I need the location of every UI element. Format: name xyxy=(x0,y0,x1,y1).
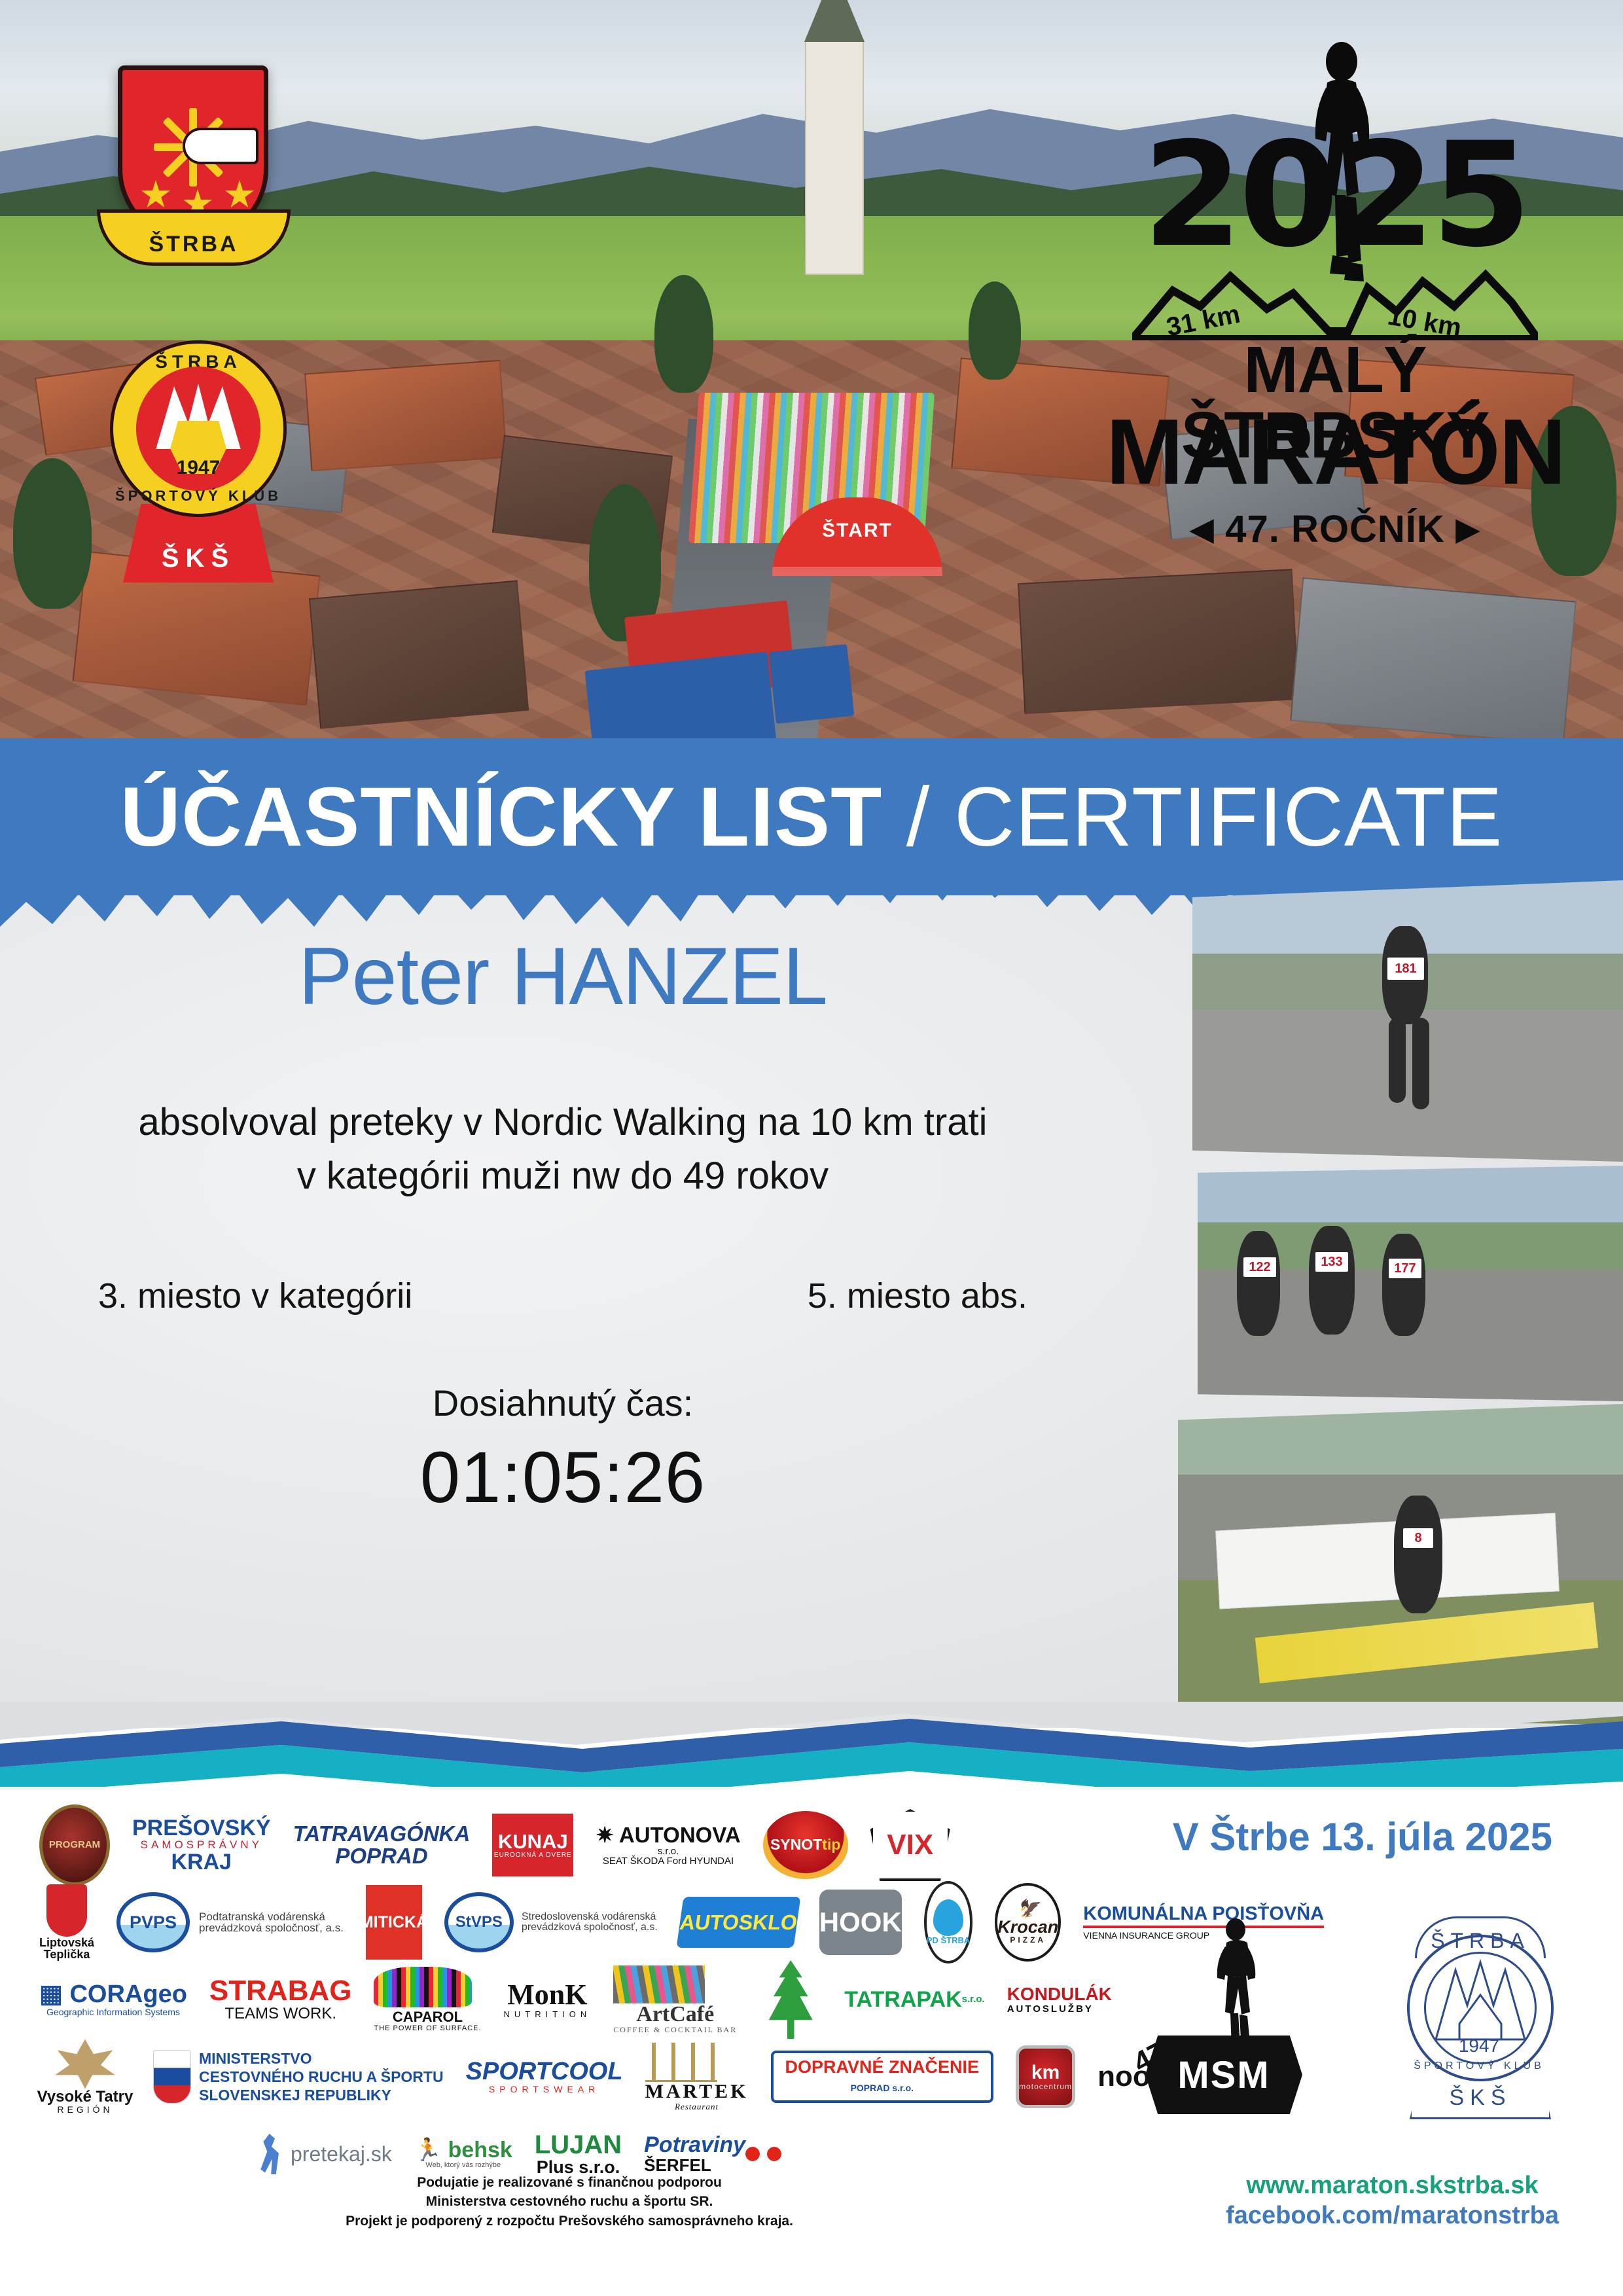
banner-title-sk: ÚČASTNÍCKY LIST xyxy=(120,770,883,864)
sponsor-sub2: prevádzková spoločnosť, a.s. xyxy=(199,1922,344,1934)
sponsor-logo-liptovska-teplicka: Liptovská Teplička xyxy=(39,1878,94,1967)
sponsor-logo-lujan-plus: LUJAN Plus s.r.o. xyxy=(535,2132,622,2176)
coat-ribbon: ŠTRBA xyxy=(97,209,291,266)
club-emblem-arc-bottom: ŠPORTOVÝ KLUB xyxy=(113,488,283,505)
cutlery-icon xyxy=(645,2043,717,2082)
sports-club-emblem: ŠTRBA 1947 ŠPORTOVÝ KLUB xyxy=(110,340,287,517)
sponsor-logo-krocan-pizza: 🦅 Krocan PIZZA xyxy=(995,1883,1061,1962)
sponsor-logo-presovsky-kraj: PREŠOVSKÝ SAMOSPRÁVNY KRAJ xyxy=(132,1817,271,1874)
sponsor-logo-ps-urbar-strba xyxy=(759,1959,822,2040)
sponsor-sub: REGIÓN xyxy=(57,2105,113,2114)
website-url[interactable]: www.maraton.skstrba.sk xyxy=(1226,2170,1559,2200)
runner-figure xyxy=(1237,1231,1280,1336)
msm-runner-icon xyxy=(1204,1918,1264,2055)
sponsor-brands: SEAT ŠKODA Ford HYUNDAI xyxy=(596,1856,740,1866)
grid-icon: ▦ xyxy=(39,1981,63,2008)
time-label: Dosiahnutý čas: xyxy=(0,1382,1126,1424)
coffee-cup-icon xyxy=(613,1965,705,2003)
photo-finisher: 181 xyxy=(1192,880,1623,1162)
sponsor-name: LUJAN xyxy=(535,2130,622,2159)
disclaimer-line-2: Ministerstva cestovného ruchu a športu S… xyxy=(39,2192,1099,2211)
msm-abbr: MSM xyxy=(1177,2053,1270,2097)
funding-disclaimer: Podujatie je realizované s finančnou pod… xyxy=(39,2173,1099,2231)
contact-urls: www.maraton.skstrba.sk facebook.com/mara… xyxy=(1226,2170,1559,2231)
sponsor-sub: tip xyxy=(822,1837,840,1852)
tree xyxy=(969,281,1021,380)
sponsor-logo-beh-sk: 🏃 behsk Web, ktorý vás rozhýbe xyxy=(414,2139,512,2169)
sponsor-logo-synot-tip: SYNOTtip xyxy=(763,1811,848,1879)
coat-ribbon-label: ŠTRBA xyxy=(149,232,238,257)
sponsor-logo-grid: PROGRAM PREŠOVSKÝ SAMOSPRÁVNY KRAJ TATRA… xyxy=(39,1806,1152,2193)
sponsor-logo-vysoke-tatry: Vysoké Tatry REGIÓN xyxy=(39,2032,131,2121)
club-emblem-inner: 1947 xyxy=(136,367,260,491)
footer: PROGRAM PREŠOVSKÝ SAMOSPRÁVNY KRAJ TATRA… xyxy=(0,1787,1623,2296)
wave-divider xyxy=(0,1702,1623,1800)
photo-collage: 181 122 133 177 8 xyxy=(1152,880,1623,1728)
bib-number: 177 xyxy=(1389,1259,1421,1278)
event-title-line2: MARATÓN xyxy=(1106,406,1564,499)
coat-star xyxy=(224,180,255,210)
sponsor-logo-autonova: ✷ AUTONOVA s.r.o. SEAT ŠKODA Ford HYUNDA… xyxy=(596,1824,740,1866)
rooftop xyxy=(1018,569,1299,714)
rooftop xyxy=(309,580,529,728)
turkey-icon: 🦅 xyxy=(1017,1900,1039,1918)
hero-photo: ŠTART ŠTRBA ŠKŠ ŠTRBA 1947 ŠPORTOVÝ KLUB… xyxy=(0,0,1623,746)
coat-star xyxy=(141,180,171,210)
sponsor-logo-hook: HOOK xyxy=(819,1890,902,1955)
rooftop xyxy=(304,360,507,472)
sponsor-name: AUTOSKLO xyxy=(679,1912,799,1933)
sponsor-name: AUTONOVA xyxy=(619,1823,741,1847)
sponsor-name: MINISTERSTVO xyxy=(199,2050,312,2067)
runner-leg xyxy=(1412,1018,1429,1109)
crest-icon xyxy=(46,1884,87,1937)
sponsor-sub: Podtatranská vodárenská xyxy=(199,1910,325,1923)
sponsor-logo-pd-strba: PD ŠTRBA xyxy=(924,1881,972,1964)
sponsor-logo-autosklo-servis: AUTOSKLO xyxy=(676,1897,800,1948)
sponsor-sub: EUROOKNÁ A DVERE xyxy=(494,1852,572,1859)
runner-silhouette-icon xyxy=(1302,39,1381,301)
sponsor-name: CORAgeo xyxy=(69,1981,187,2008)
sponsor-name: CAPAROL xyxy=(393,2009,463,2025)
sponsor-name: MARTEK xyxy=(645,2081,749,2102)
runner-figure xyxy=(1309,1226,1355,1335)
sponsor-logo-tatravagonka: TATRAVAGÓNKA POPRAD xyxy=(293,1823,471,1867)
sponsor-logo-sportcool: SPORTCOOL SPORTSWEAR xyxy=(466,2059,623,2094)
event-tent xyxy=(769,644,855,724)
sponsor-logo-strabag: STRABAG TEAMS WORK. xyxy=(209,1977,352,2022)
sponsor-name: MITICKÁ xyxy=(360,1914,428,1931)
sponsor-name: HOOK xyxy=(819,1909,902,1937)
coat-hand xyxy=(183,128,259,164)
photo-finish-line: 8 xyxy=(1178,1404,1623,1725)
left-arrow-icon: ◀ xyxy=(1190,512,1214,546)
edelweiss-icon xyxy=(55,2039,115,2089)
issue-date: V Štrbe 13. júla 2025 xyxy=(1173,1814,1552,1859)
bib-number: 133 xyxy=(1315,1252,1348,1272)
sponsor-name: KONDULÁK xyxy=(1007,1984,1112,2004)
sponsor-name: behsk xyxy=(448,2138,512,2162)
right-arrow-icon: ▶ xyxy=(1456,512,1480,546)
sponsor-row: Liptovská Teplička PVPS Podtatranská vod… xyxy=(39,1884,1152,1961)
sponsor-name: StVPS xyxy=(444,1892,514,1952)
disclaimer-line-1: Podujatie je realizované s finančnou pod… xyxy=(39,2173,1099,2192)
sponsor-sub: s.r.o. xyxy=(962,1994,985,2004)
club-emblem-base-label: ŠKŠ xyxy=(162,544,235,573)
water-drop-icon xyxy=(933,1899,963,1936)
sponsor-sub: COFFEE & COCKTAIL BAR xyxy=(613,2026,737,2034)
disclaimer-line-3: Projekt je podporený z rozpočtu Prešovsk… xyxy=(39,2212,1099,2231)
certificate-description: absolvoval preteky v Nordic Walking na 1… xyxy=(0,1096,1126,1204)
sponsor-logo-artcafe: ArtCafé COFFEE & COCKTAIL BAR xyxy=(613,1965,737,2034)
elephant-icon xyxy=(374,1967,472,2007)
sponsor-sub: NUTRITION xyxy=(504,2010,592,2018)
sponsor-sub: POPRAD xyxy=(293,1845,471,1867)
participant-name: Peter HANZEL xyxy=(0,936,1126,1017)
sponsor-logo-miticka: MITICKÁ xyxy=(366,1885,422,1960)
running-figure-icon: 🏃 xyxy=(414,2138,442,2162)
description-line-1: absolvoval preteky v Nordic Walking na 1… xyxy=(0,1096,1126,1149)
facebook-url[interactable]: facebook.com/maratonstrba xyxy=(1226,2200,1559,2231)
sponsor-sub2: KRAJ xyxy=(171,1850,232,1874)
finish-banner xyxy=(1215,1513,1560,1609)
runner-icon xyxy=(258,2134,285,2174)
photo-pack-of-runners: 122 133 177 xyxy=(1198,1166,1623,1401)
event-edition-label: 47. ROČNÍK xyxy=(1225,508,1445,550)
sponsor-sub: s.r.o. xyxy=(596,1846,740,1856)
bib-number: 8 xyxy=(1403,1528,1433,1548)
finish-tape xyxy=(1255,1602,1598,1683)
banner-title-en: CERTIFICATE xyxy=(954,770,1503,864)
sponsor-logo-kunaj: KUNAJ EUROOKNÁ A DVERE xyxy=(492,1814,573,1876)
sponsor-logo-kondulak: KONDULÁK AUTOSLUŽBY xyxy=(1007,1985,1112,2014)
event-edition: ◀ 47. ROČNÍK ▶ xyxy=(1106,507,1564,551)
time-value: 01:05:26 xyxy=(0,1436,1126,1519)
sponsor-sub: CESTOVNÉHO RUCHU A ŠPORTU xyxy=(199,2068,444,2085)
sponsor-row: PROGRAM PREŠOVSKÝ SAMOSPRÁVNY KRAJ TATRA… xyxy=(39,1806,1152,1884)
sponsor-row: ▦ CORAgeo Geographic Information Systems… xyxy=(39,1961,1152,2038)
slovak-crest-icon xyxy=(153,2050,191,2104)
runner-leg xyxy=(1389,1018,1406,1103)
tree xyxy=(654,275,713,393)
church-building xyxy=(805,39,864,275)
certificate-content: Peter HANZEL absolvoval preteky v Nordic… xyxy=(0,936,1126,1519)
sponsor-name: Vysoké Tatry xyxy=(37,2089,134,2105)
bib-number: 122 xyxy=(1243,1257,1276,1277)
sponsor-sub: Geographic Information Systems xyxy=(39,2007,187,2017)
sponsor-logo-corageo: ▦ CORAgeo Geographic Information Systems xyxy=(39,1982,187,2017)
sponsor-logo-stvps: StVPS Stredoslovenská vodárenská prevádz… xyxy=(444,1892,658,1952)
sponsor-name: SYNOT xyxy=(770,1837,822,1852)
description-line-2: v kategórii muži nw do 49 rokov xyxy=(0,1149,1126,1203)
sponsor-logo-km-motocentrum: km motocentrum xyxy=(1016,2045,1075,2108)
participant-first-name: Peter xyxy=(298,931,489,1022)
tree-icon xyxy=(762,1960,819,2039)
sponsor-logo-pvps: PVPS Podtatranská vodárenská prevádzková… xyxy=(116,1892,344,1952)
stamp-base: ŠKŠ xyxy=(1410,2068,1551,2119)
rooftop xyxy=(1290,577,1577,745)
sponsor-logo-tatrapak: TATRAPAKs.r.o. xyxy=(844,1988,984,2011)
sponsor-sub: TEAMS WORK. xyxy=(209,2006,352,2022)
sponsor-name: Potraviny xyxy=(644,2132,745,2157)
sponsor-logo-vix: VIX xyxy=(870,1809,950,1881)
sponsor-name: TATRAVAGÓNKA xyxy=(293,1823,471,1845)
tree xyxy=(13,458,92,609)
sponsor-name: Krocan xyxy=(997,1918,1058,1937)
sponsor-name: PVPS xyxy=(116,1892,190,1952)
sponsor-name: PREŠOVSKÝ xyxy=(132,1816,271,1840)
sponsor-logo-program: PROGRAM xyxy=(39,1804,110,1886)
sponsor-sub: ŠERFEL xyxy=(644,2157,745,2174)
sponsor-name: PROGRAM xyxy=(49,1840,100,1850)
sponsor-logo-pretekaj-sk: pretekaj.sk xyxy=(258,2134,392,2174)
place-absolute: 5. miesto abs. xyxy=(808,1276,1027,1316)
event-logo: 2025 31 km 10 km MALÝ ŠTRBSKÝ MARATÓN ◀ … xyxy=(1106,39,1564,583)
sponsor-name: km xyxy=(1031,2063,1060,2083)
sponsor-name: VIX xyxy=(887,1831,933,1860)
banner-separator: / xyxy=(882,770,954,864)
sponsor-name: KUNAJ xyxy=(498,1831,568,1852)
sponsor-row: Vysoké Tatry REGIÓN MINISTERSTVO CESTOVN… xyxy=(39,2038,1152,2115)
sponsor-sub: POPRAD s.r.o. xyxy=(851,2083,914,2093)
sponsor-sub2: SLOVENSKEJ REPUBLIKY xyxy=(199,2087,391,2104)
dots-icon xyxy=(745,2147,785,2161)
sponsor-sub: PIZZA xyxy=(1010,1936,1046,1944)
sponsor-logo-caparol: CAPAROL THE POWER OF SURFACE. xyxy=(374,1967,481,2032)
sponsor-name: PD ŠTRBA xyxy=(927,1936,970,1945)
sponsor-sub: Teplička xyxy=(44,1948,90,1960)
sponsor-logo-potraviny-serfel: Potraviny ŠERFEL xyxy=(644,2134,785,2174)
sponsor-sub: THE POWER OF SURFACE. xyxy=(374,2025,481,2032)
sponsor-name: pretekaj.sk xyxy=(291,2144,392,2165)
place-in-category: 3. miesto v kategórii xyxy=(98,1276,412,1316)
sponsor-name: MonK xyxy=(507,1979,587,2011)
sponsor-logo-ministerstvo: MINISTERSTVO CESTOVNÉHO RUCHU A ŠPORTU S… xyxy=(153,2049,444,2104)
sponsor-name: Liptovská xyxy=(39,1937,94,1948)
sponsor-name: TATRAPAK xyxy=(844,1988,961,2011)
burst-icon: ✷ xyxy=(596,1823,614,1847)
stamp-peaks-icon xyxy=(1431,1956,1530,2041)
start-arch-label: ŠTART xyxy=(772,520,942,542)
sponsor-name: SPORTCOOL xyxy=(466,2058,623,2085)
sponsor-sub: Web, ktorý vás rozhýbe xyxy=(414,2162,512,2169)
sponsor-name: STRABAG xyxy=(209,1975,352,2007)
placement-row: 3. miesto v kategórii 5. miesto abs. xyxy=(0,1276,1126,1316)
sks-stamp: ŠTRBA 1947 ŠPORTOVÝ KLUB ŠKŠ xyxy=(1381,1905,1577,2127)
sponsor-name: ArtCafé xyxy=(636,2002,714,2026)
sponsor-logo-martek-restaurant: MARTEK Restaurant xyxy=(645,2043,749,2111)
club-emblem-year: 1947 xyxy=(136,457,260,479)
bib-number: 181 xyxy=(1387,958,1424,980)
participant-last-name: HANZEL xyxy=(511,931,827,1022)
sponsor-sub2: prevádzková spoločnosť, a.s. xyxy=(522,1922,658,1933)
sponsor-sub: SPORTSWEAR xyxy=(466,2085,623,2094)
banner-title: ÚČASTNÍCKY LIST / CERTIFICATE xyxy=(120,769,1503,865)
sponsor-name: DOPRAVNÉ ZNAČENIE xyxy=(785,2058,980,2077)
sponsor-logo-monk-nutrition: MonK NUTRITION xyxy=(504,1981,592,2018)
sponsor-sub: motocentrum xyxy=(1019,2083,1072,2090)
runner-figure xyxy=(1394,1496,1442,1613)
sponsor-logo-dopravne-znacenie: DOPRAVNÉ ZNAČENIE POPRAD s.r.o. xyxy=(771,2051,994,2102)
stamp-year: 1947 xyxy=(1381,2036,1577,2056)
msm-logo: MSM 47. xyxy=(1145,1911,1315,2121)
sponsor-sub: AUTOSLUŽBY xyxy=(1007,2004,1112,2014)
sponsor-sub: Stredoslovenská vodárenská xyxy=(522,1911,656,1922)
runner-figure xyxy=(1382,1234,1425,1336)
sponsor-sub: Restaurant xyxy=(645,2102,749,2111)
